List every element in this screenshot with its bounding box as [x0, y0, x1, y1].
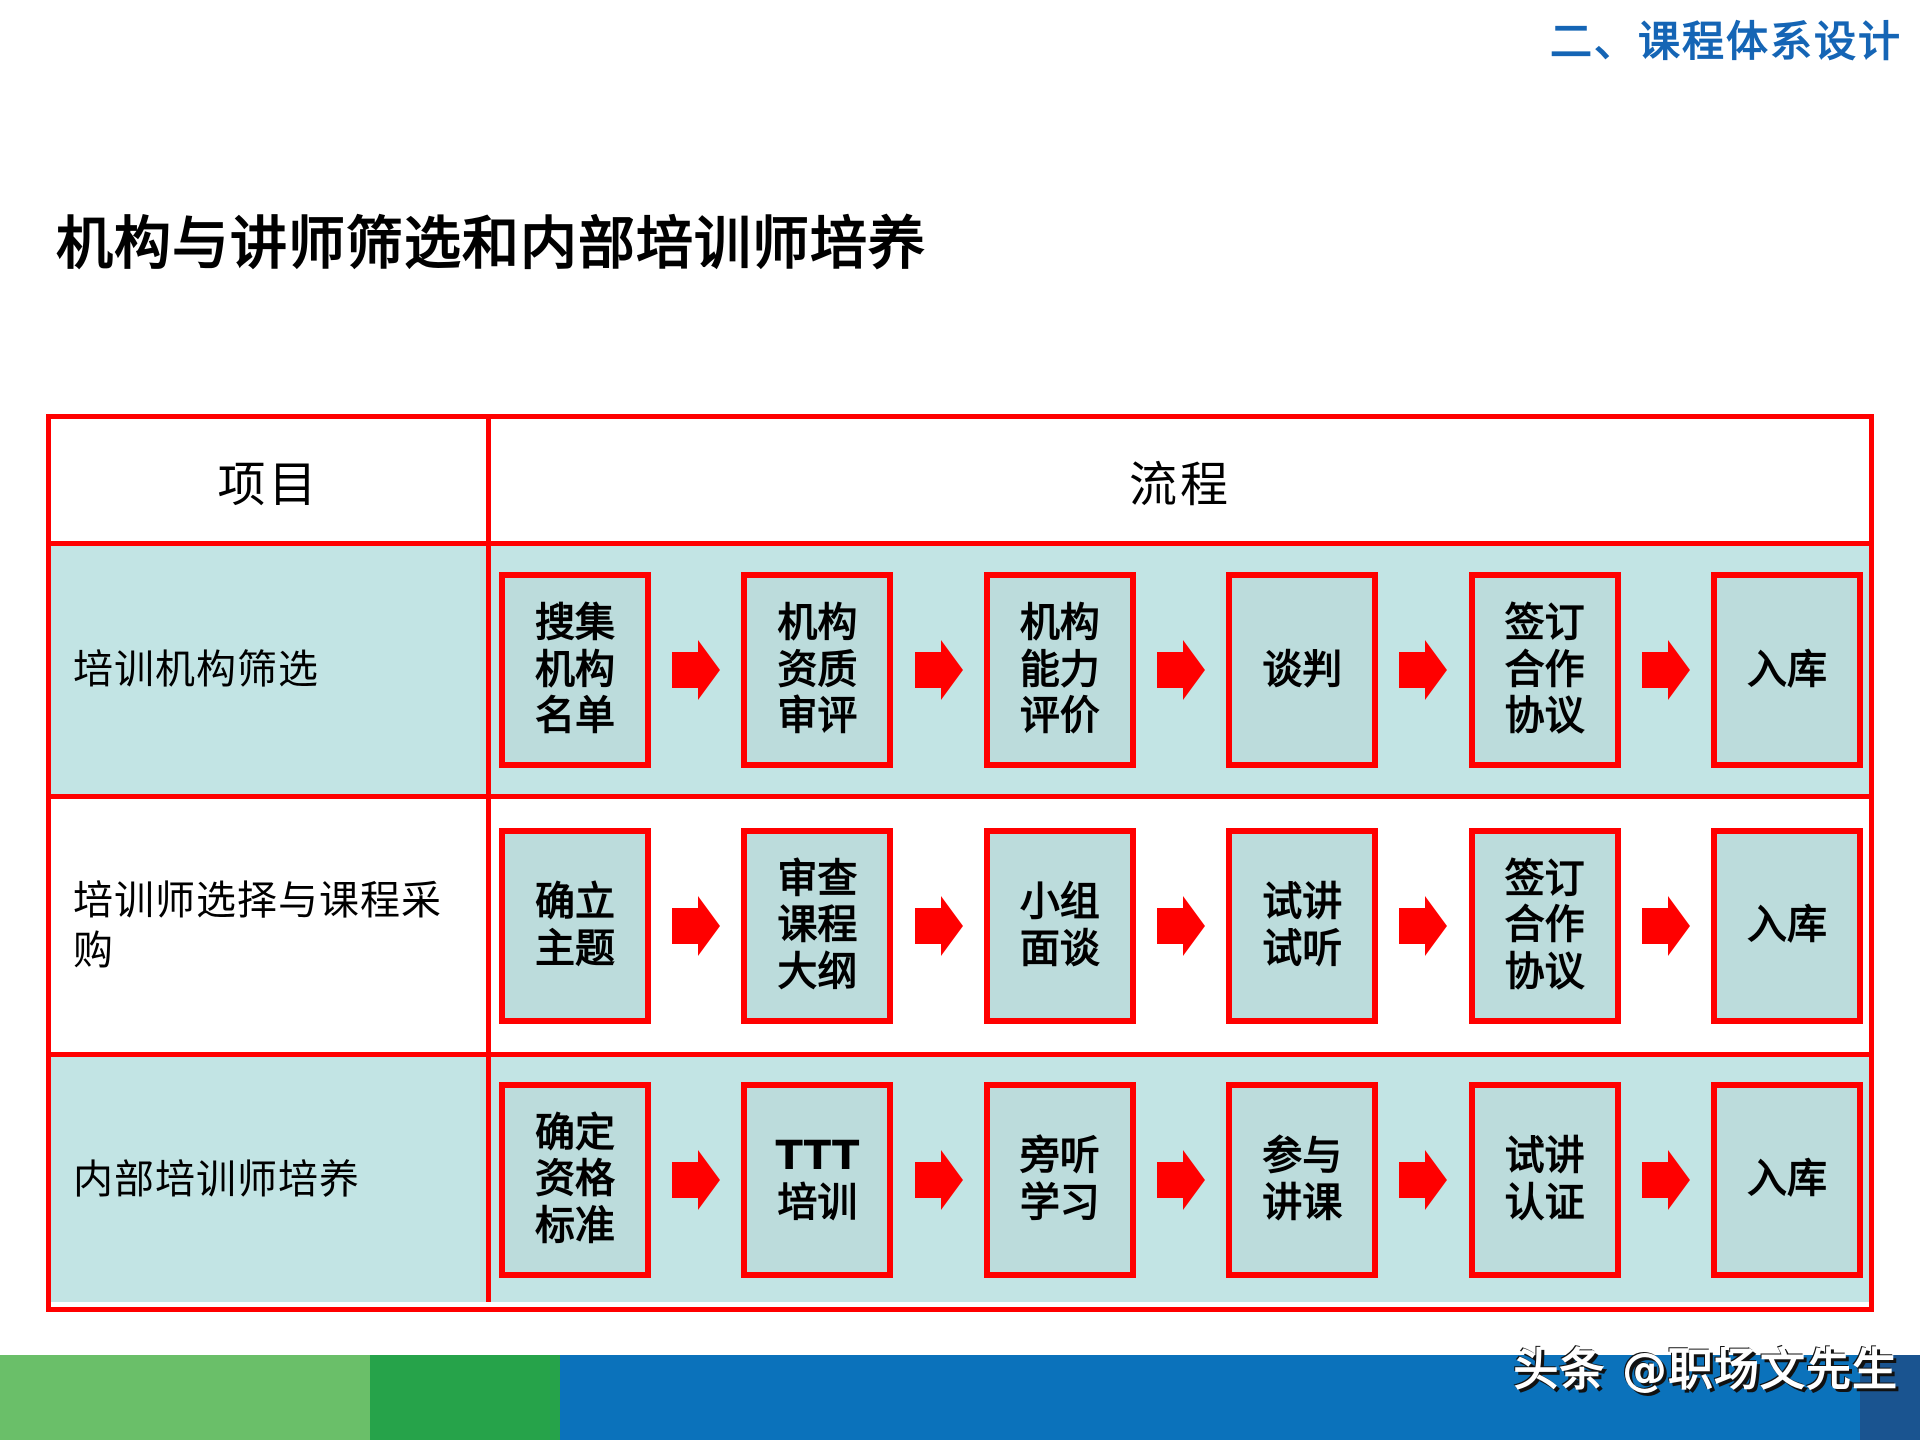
row-label-1: 培训机构筛选	[51, 645, 329, 695]
flow-table: 项目 流程 培训机构筛选 搜集 机构 名单	[46, 414, 1874, 1312]
flow-arrow-icon	[1621, 1145, 1711, 1215]
flow-node-label: 入库	[1747, 902, 1827, 948]
header-cell-item: 项目	[51, 419, 491, 541]
flow-node-label: 机构 能力 评价	[1020, 600, 1100, 739]
footer-bar-green-light	[0, 1355, 370, 1440]
flow-node-label: 机构 资质 审评	[777, 600, 857, 739]
flow-node-label: 签订 合作 协议	[1505, 600, 1585, 739]
flow-node[interactable]: 确立 主题	[499, 828, 651, 1024]
flow-arrow-icon	[1136, 1145, 1226, 1215]
row-label-cell-1: 培训机构筛选	[51, 546, 491, 794]
flow-arrow-icon	[1621, 891, 1711, 961]
flow-node[interactable]: 旁听 学习	[984, 1082, 1136, 1278]
header-label-item: 项目	[217, 457, 319, 513]
flow-node-label: 搜集 机构 名单	[535, 600, 615, 739]
flow-node-label: 试讲 认证	[1505, 1133, 1585, 1226]
flow-node-label: 确立 主题	[535, 879, 615, 972]
flow-node[interactable]: 小组 面谈	[984, 828, 1136, 1024]
flow-arrow-icon	[1378, 891, 1468, 961]
flow-arrow-icon	[651, 1145, 741, 1215]
row-label-3: 内部培训师培养	[51, 1155, 370, 1205]
flow-node[interactable]: 机构 能力 评价	[984, 572, 1136, 768]
flow-node[interactable]: 入库	[1711, 828, 1863, 1024]
table-row: 培训机构筛选 搜集 机构 名单 机构 资质 审评	[51, 541, 1869, 794]
table-row: 培训师选择与课程采购 确立 主题 审查 课程 大纲	[51, 794, 1869, 1052]
row-flow-cell-1: 搜集 机构 名单 机构 资质 审评 机构 能力 评价	[491, 546, 1869, 794]
flow-node-label: 旁听 学习	[1020, 1133, 1100, 1226]
page-title: 机构与讲师筛选和内部培训师培养	[56, 198, 926, 280]
flow-node-label: 入库	[1747, 647, 1827, 693]
row-flow-cell-3: 确定 资格 标准 TTT 培训 旁听 学习	[491, 1057, 1869, 1302]
row-flow-cell-2: 确立 主题 审查 课程 大纲 小组 面谈	[491, 799, 1869, 1052]
flow-node-label: 确定 资格 标准	[535, 1110, 615, 1249]
flow-node[interactable]: 签订 合作 协议	[1469, 828, 1621, 1024]
table-header-row: 项目 流程	[51, 419, 1869, 541]
flow-node[interactable]: 入库	[1711, 572, 1863, 768]
flow-node-label: 谈判	[1262, 647, 1342, 693]
flow-arrow-icon	[893, 1145, 983, 1215]
header-label-flow: 流程	[1129, 457, 1231, 513]
row-label-cell-2: 培训师选择与课程采购	[51, 799, 491, 1052]
flow-arrow-icon	[1136, 891, 1226, 961]
row-label-2: 培训师选择与课程采购	[51, 876, 486, 976]
flow-arrow-icon	[651, 635, 741, 705]
flow-node[interactable]: 机构 资质 审评	[741, 572, 893, 768]
flow-chain-3: 确定 资格 标准 TTT 培训 旁听 学习	[491, 1082, 1869, 1278]
flow-node-label: 审查 课程 大纲	[777, 856, 857, 995]
section-header: 二、课程体系设计	[1550, 8, 1902, 69]
flow-node[interactable]: 入库	[1711, 1082, 1863, 1278]
table-row: 内部培训师培养 确定 资格 标准 TTT 培训	[51, 1052, 1869, 1302]
flow-arrow-icon	[1378, 1145, 1468, 1215]
flow-node[interactable]: 参与 讲课	[1226, 1082, 1378, 1278]
flow-node[interactable]: 试讲 试听	[1226, 828, 1378, 1024]
row-label-cell-3: 内部培训师培养	[51, 1057, 491, 1302]
flow-arrow-icon	[1136, 635, 1226, 705]
flow-node-label: 小组 面谈	[1020, 879, 1100, 972]
flow-arrow-icon	[893, 635, 983, 705]
flow-node[interactable]: 审查 课程 大纲	[741, 828, 893, 1024]
flow-chain-1: 搜集 机构 名单 机构 资质 审评 机构 能力 评价	[491, 572, 1869, 768]
flow-node[interactable]: 确定 资格 标准	[499, 1082, 651, 1278]
flow-node-label: 参与 讲课	[1262, 1133, 1342, 1226]
flow-node[interactable]: 搜集 机构 名单	[499, 572, 651, 768]
flow-node-label: TTT 培训	[776, 1133, 860, 1226]
footer-bar-green-dark	[370, 1355, 560, 1440]
flow-node-label: 入库	[1747, 1156, 1827, 1202]
flow-node[interactable]: 签订 合作 协议	[1469, 572, 1621, 768]
flow-arrow-icon	[1378, 635, 1468, 705]
flow-node[interactable]: 谈判	[1226, 572, 1378, 768]
flow-node[interactable]: 试讲 认证	[1469, 1082, 1621, 1278]
flow-node-label: 签订 合作 协议	[1505, 856, 1585, 995]
watermark-text: 头条 @职场文先生	[1513, 1333, 1898, 1398]
flow-node[interactable]: TTT 培训	[741, 1082, 893, 1278]
flow-arrow-icon	[893, 891, 983, 961]
flow-arrow-icon	[1621, 635, 1711, 705]
flow-chain-2: 确立 主题 审查 课程 大纲 小组 面谈	[491, 828, 1869, 1024]
flow-arrow-icon	[651, 891, 741, 961]
header-cell-flow: 流程	[491, 419, 1869, 541]
flow-node-label: 试讲 试听	[1262, 879, 1342, 972]
